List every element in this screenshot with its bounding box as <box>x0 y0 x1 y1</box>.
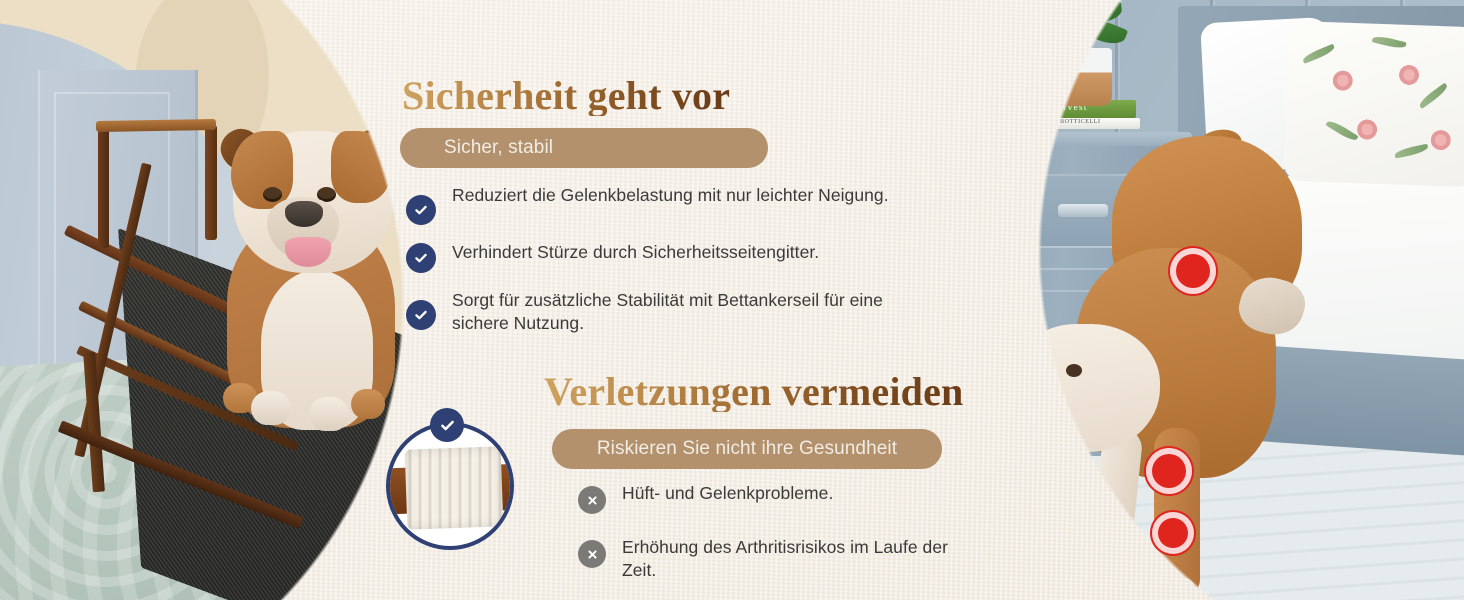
check-icon <box>406 300 436 330</box>
safety-headline: Sicherheit geht vor <box>402 76 730 116</box>
list-item-text: Erhöhung des Arthritisrisikos im Laufe d… <box>622 536 978 583</box>
rope-detail-check-badge <box>430 408 464 442</box>
injury-pill-label: Riskieren Sie nicht ihre Gesundheit <box>597 438 897 460</box>
check-icon <box>406 195 436 225</box>
injury-pill-badge: Riskieren Sie nicht ihre Gesundheit <box>552 429 942 469</box>
cross-icon <box>578 486 606 514</box>
promo-banner: BOTTICELLI harvest Sicherheit geht vor <box>0 0 1464 600</box>
safety-pill-label: Sicher, stabil <box>444 137 553 159</box>
list-item: Verhindert Stürze durch Sicherheitsseite… <box>406 241 936 273</box>
list-item: Erhöhung des Arthritisrisikos im Laufe d… <box>578 536 978 583</box>
safety-bullet-list: Reduziert die Gelenkbelastung mit nur le… <box>406 184 936 352</box>
list-item: Sorgt für zusätzliche Stabilität mit Bet… <box>406 289 936 336</box>
check-icon <box>406 243 436 273</box>
coiled-rope <box>405 446 504 529</box>
injury-bullet-list: Hüft- und Gelenkprobleme. Erhöhung des A… <box>578 482 978 600</box>
cross-icon <box>578 540 606 568</box>
list-item: Hüft- und Gelenkprobleme. <box>578 482 978 514</box>
list-item-text: Reduziert die Gelenkbelastung mit nur le… <box>452 184 889 207</box>
copy-block: Sicherheit geht vor Sicher, stabil Reduz… <box>0 0 1464 600</box>
list-item-text: Sorgt für zusätzliche Stabilität mit Bet… <box>452 289 936 336</box>
injury-headline: Verletzungen vermeiden <box>544 372 964 412</box>
list-item-text: Verhindert Stürze durch Sicherheitsseite… <box>452 241 819 264</box>
list-item: Reduziert die Gelenkbelastung mit nur le… <box>406 184 936 225</box>
safety-pill-badge: Sicher, stabil <box>400 128 768 168</box>
list-item-text: Hüft- und Gelenkprobleme. <box>622 482 833 505</box>
